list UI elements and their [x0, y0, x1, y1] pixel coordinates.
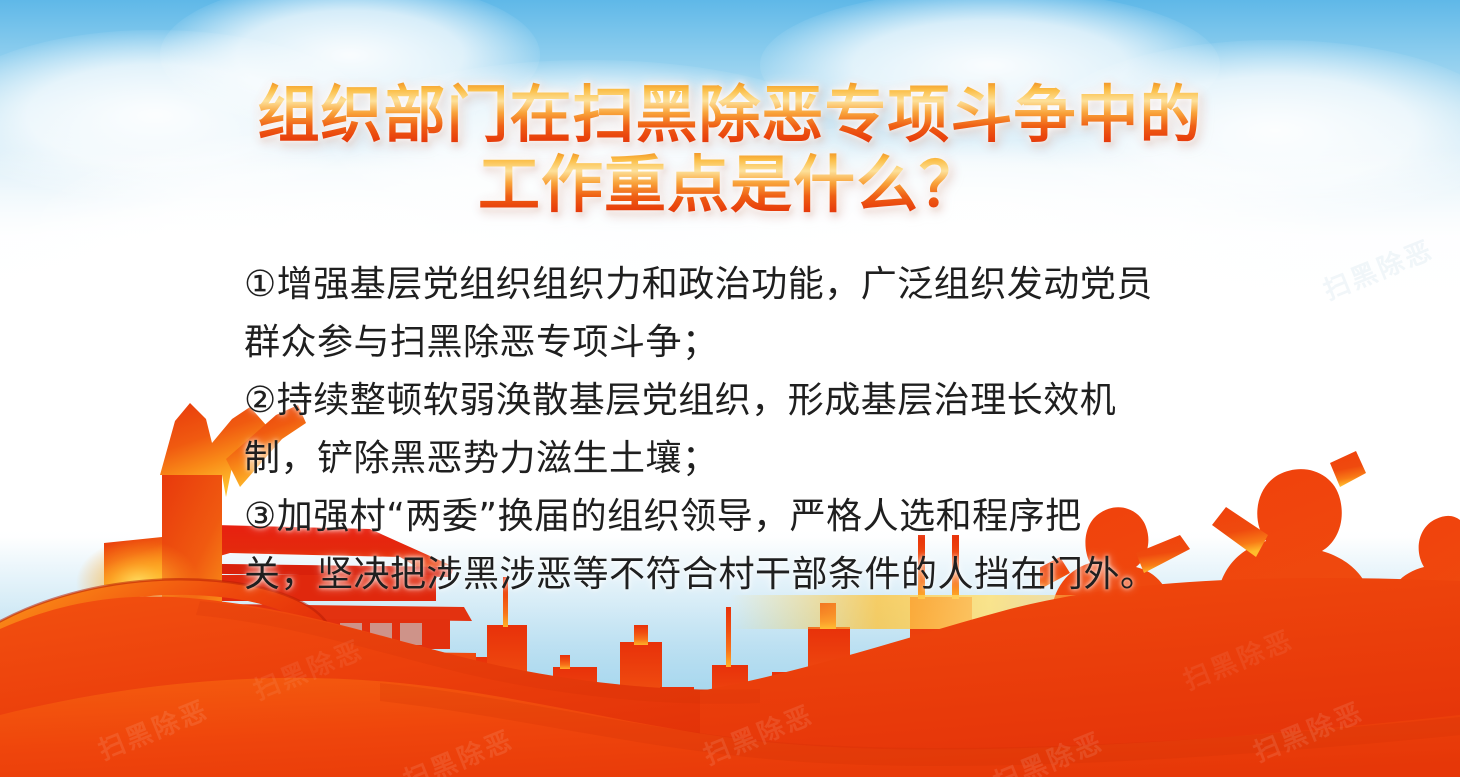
body-line: 群众参与扫黑除恶专项斗争；	[244, 314, 1234, 372]
title-line-1: 组织部门在扫黑除恶专项斗争中的	[0, 80, 1460, 150]
poster-canvas: 扫黑除恶 扫黑除恶 扫黑除恶 扫黑除恶 扫黑除恶 扫黑除恶 扫黑除恶 扫黑除恶 …	[0, 0, 1460, 777]
body-line: ③加强村“两委”换届的组织领导，严格人选和程序把	[244, 488, 1234, 546]
poster-body: ①增强基层党组织组织力和政治功能，广泛组织发动党员 群众参与扫黑除恶专项斗争； …	[244, 256, 1234, 604]
body-line: ②持续整顿软弱涣散基层党组织，形成基层治理长效机	[244, 372, 1234, 430]
body-line: ①增强基层党组织组织力和政治功能，广泛组织发动党员	[244, 256, 1234, 314]
title-line-2: 工作重点是什么？	[0, 150, 1460, 220]
body-line: 制，铲除黑恶势力滋生土壤；	[244, 430, 1234, 488]
body-line: 关，坚决把涉黑涉恶等不符合村干部条件的人挡在门外。	[244, 546, 1234, 604]
poster-title: 组织部门在扫黑除恶专项斗争中的 工作重点是什么？	[0, 80, 1460, 220]
